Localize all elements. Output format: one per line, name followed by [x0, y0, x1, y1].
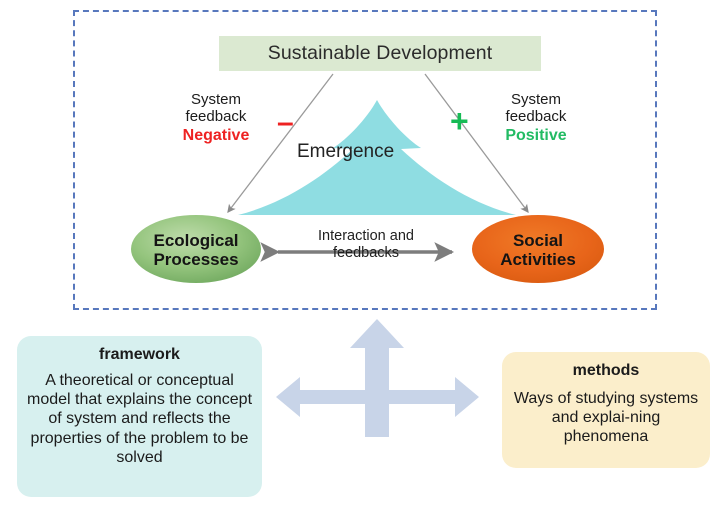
framework-card-body: A theoretical or conceptual model that e…	[25, 371, 254, 467]
methods-card[interactable]: methods Ways of studying systems and exp…	[502, 352, 710, 468]
framework-card-title: framework	[25, 346, 254, 364]
methods-card-body: Ways of studying systems and explai-ning…	[510, 389, 702, 447]
system-feedback-positive-block: System feedback Positive	[488, 92, 584, 145]
plus-sign-icon: +	[450, 105, 469, 137]
sustainable-development-label: Sustainable Development	[268, 42, 493, 65]
social-activities-label[interactable]: Social Activities	[479, 231, 597, 270]
emergence-label: Emergence	[297, 141, 394, 163]
ecological-processes-label[interactable]: Ecological Processes	[134, 231, 258, 270]
methods-card-title: methods	[510, 362, 702, 380]
feedback-right-line1: System	[488, 92, 584, 109]
social-line1: Social	[479, 231, 597, 250]
ecological-line2: Processes	[134, 250, 258, 269]
interaction-line2: feedbacks	[283, 245, 449, 262]
feedback-negative-label: Negative	[168, 127, 264, 145]
feedback-positive-label: Positive	[488, 127, 584, 145]
minus-sign-icon: –	[277, 108, 294, 138]
sustainable-development-banner[interactable]: Sustainable Development	[219, 36, 541, 71]
connector-arrow-up	[350, 319, 404, 437]
feedback-left-line1: System	[168, 92, 264, 109]
framework-card[interactable]: framework A theoretical or conceptual mo…	[17, 336, 262, 497]
feedback-right-line2: feedback	[488, 109, 584, 126]
feedback-left-line2: feedback	[168, 109, 264, 126]
interaction-and-feedbacks-label: Interaction and feedbacks	[283, 228, 449, 261]
system-feedback-negative-block: System feedback Negative	[168, 92, 264, 145]
interaction-line1: Interaction and	[283, 228, 449, 245]
diagram-canvas: Sustainable Development System feedback …	[0, 0, 720, 521]
ecological-line1: Ecological	[134, 231, 258, 250]
social-line2: Activities	[479, 250, 597, 269]
